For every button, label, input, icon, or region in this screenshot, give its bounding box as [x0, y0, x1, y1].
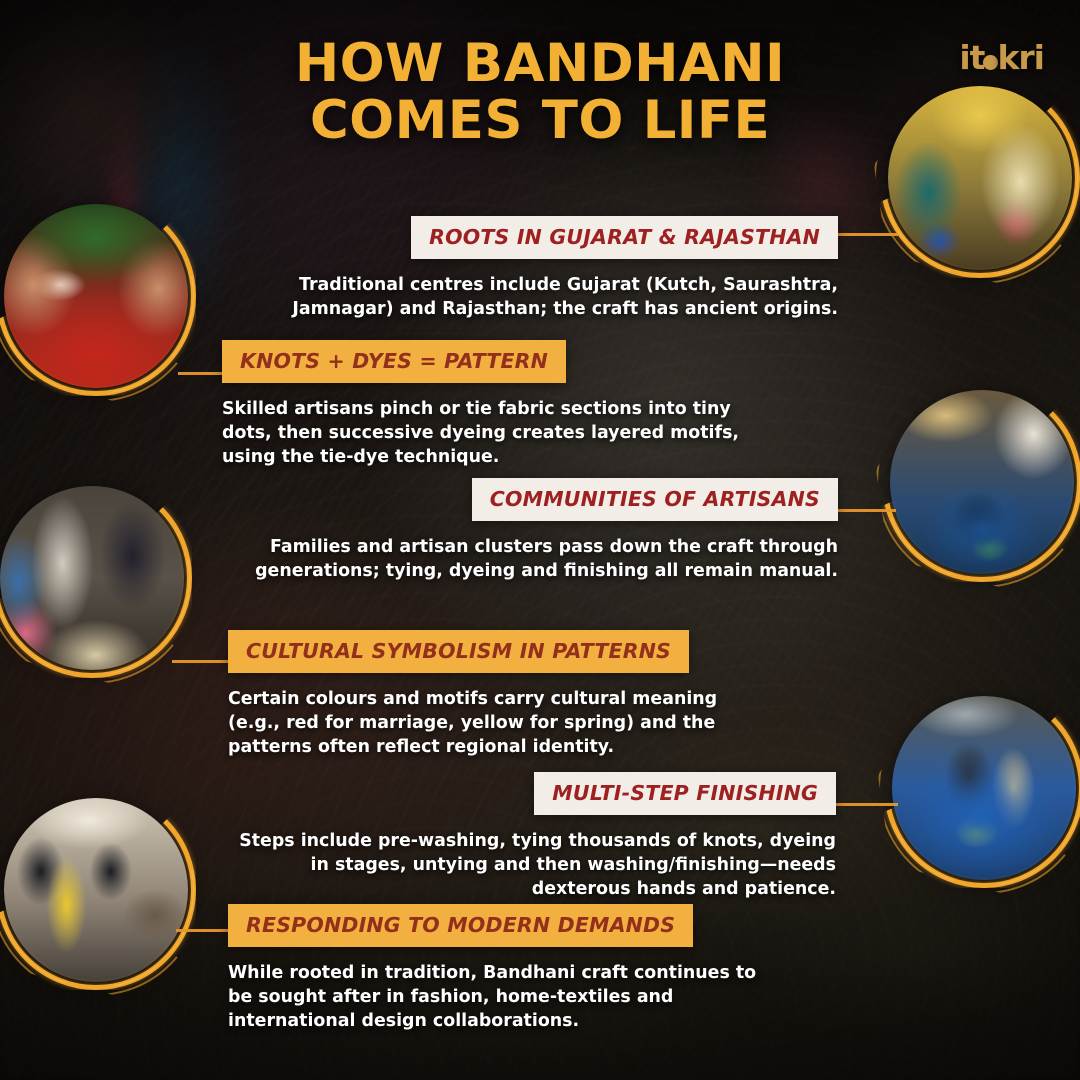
section-modern-demands: RESPONDING TO MODERN DEMANDS While roote…	[228, 904, 776, 1033]
section-body-symbolism: Certain colours and motifs carry cultura…	[228, 687, 768, 759]
logo-dot-icon	[983, 55, 998, 70]
section-knots-dyes: KNOTS + DYES = PATTERN Skilled artisans …	[222, 340, 742, 469]
section-body-communities: Families and artisan clusters pass down …	[232, 535, 838, 583]
infographic-canvas: HOW BANDHANI COMES TO LIFE itkri	[0, 0, 1080, 1080]
photo-dyer-yellow-fabric	[0, 790, 196, 990]
section-label-communities: COMMUNITIES OF ARTISANS	[472, 478, 838, 521]
photo-blue-dye-vat	[884, 688, 1080, 888]
brand-logo-text: itkri	[959, 38, 1044, 77]
connector-line-communities	[838, 509, 896, 512]
section-label-symbolism: CULTURAL SYMBOLISM IN PATTERNS	[228, 630, 689, 673]
section-label-modern-demands: RESPONDING TO MODERN DEMANDS	[228, 904, 693, 947]
photo-women-tying-yellow	[880, 78, 1080, 278]
connector-line-roots	[838, 233, 898, 236]
section-roots: ROOTS IN GUJARAT & RAJASTHAN Traditional…	[230, 216, 838, 321]
section-body-roots: Traditional centres include Gujarat (Kut…	[230, 273, 838, 321]
section-body-knots-dyes: Skilled artisans pinch or tie fabric sec…	[222, 397, 742, 469]
connector-line-symbolism	[172, 660, 230, 663]
connector-line-finishing	[836, 803, 898, 806]
section-finishing: MULTI-STEP FINISHING Steps include pre-w…	[230, 772, 836, 901]
section-communities: COMMUNITIES OF ARTISANS Families and art…	[232, 478, 838, 583]
section-label-roots: ROOTS IN GUJARAT & RAJASTHAN	[411, 216, 838, 259]
section-label-knots-dyes: KNOTS + DYES = PATTERN	[222, 340, 566, 383]
brand-logo[interactable]: itkri	[959, 38, 1044, 77]
photo-dyer-blue-vat	[882, 382, 1080, 582]
section-body-modern-demands: While rooted in tradition, Bandhani craf…	[228, 961, 776, 1033]
section-symbolism: CULTURAL SYMBOLISM IN PATTERNS Certain c…	[228, 630, 768, 759]
photo-woman-artisan-tying	[0, 478, 192, 678]
photo-hands-tying-red	[0, 196, 196, 396]
connector-line-modern-demands	[176, 929, 230, 932]
section-body-finishing: Steps include pre-washing, tying thousan…	[230, 829, 836, 901]
section-label-finishing: MULTI-STEP FINISHING	[534, 772, 836, 815]
